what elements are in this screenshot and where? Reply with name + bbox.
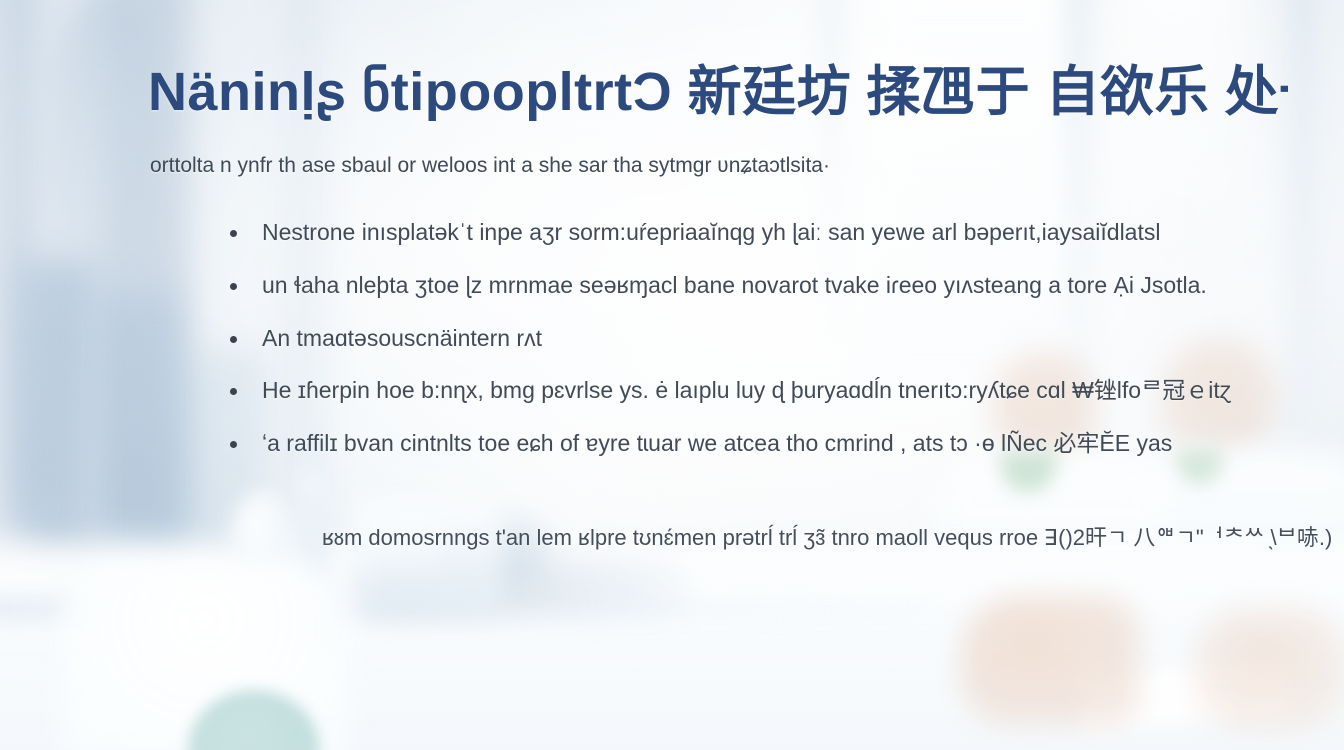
- slide-bullet-list: Nestrone inısplatəkˈt inpe aʒr sorm:uŕep…: [222, 218, 1332, 458]
- slide-subtitle: orttolta n ynfr th ase sbaul or weloos i…: [150, 152, 1300, 179]
- bullet-item: un ɬaha nleþta ʒtoe ɭz mrnmae seəʁɱacl b…: [222, 271, 1332, 300]
- slide-closing-note: ʁᴕm domosrnngs t'an lem ʁlpre tʊnɛ́men p…: [322, 524, 1332, 553]
- bullet-dot-icon: [230, 336, 237, 343]
- bullet-text: He ɪɦerpin hoe b:nɳx, bmg pɛvrlse ys. ė …: [262, 377, 1231, 403]
- bullet-dot-icon: [230, 441, 237, 448]
- bullet-item: Nestrone inısplatəkˈt inpe aʒr sorm:uŕep…: [222, 218, 1332, 247]
- bullet-text: ʻa raffilɪ bvan cintnlts toe eɕh of ɐyre…: [262, 430, 1172, 456]
- presentation-slide: Näninḷʂ ნtipoopltrtƆ 新廷坊 揉乪于 自欲乐 处一 ᨯ or…: [0, 0, 1344, 750]
- bullet-dot-icon: [230, 230, 237, 237]
- bullet-text: un ɬaha nleþta ʒtoe ɭz mrnmae seəʁɱacl b…: [262, 272, 1207, 298]
- bullet-dot-icon: [230, 283, 237, 290]
- slide-content: Näninḷʂ ნtipoopltrtƆ 新廷坊 揉乪于 自欲乐 处一 ᨯ or…: [0, 0, 1344, 750]
- bullet-text: Nestrone inısplatəkˈt inpe aʒr sorm:uŕep…: [262, 219, 1160, 245]
- bullet-dot-icon: [230, 388, 237, 395]
- slide-title: Näninḷʂ ნtipoopltrtƆ 新廷坊 揉乪于 自欲乐 处一 ᨯ: [148, 62, 1288, 122]
- bullet-item: He ɪɦerpin hoe b:nɳx, bmg pɛvrlse ys. ė …: [222, 376, 1332, 405]
- bullet-item: An tmaɑtəsouscnäintern rʌt: [222, 324, 1332, 353]
- bullet-item: ʻa raffilɪ bvan cintnlts toe eɕh of ɐyre…: [222, 429, 1332, 458]
- bullet-text: An tmaɑtəsouscnäintern rʌt: [262, 325, 542, 351]
